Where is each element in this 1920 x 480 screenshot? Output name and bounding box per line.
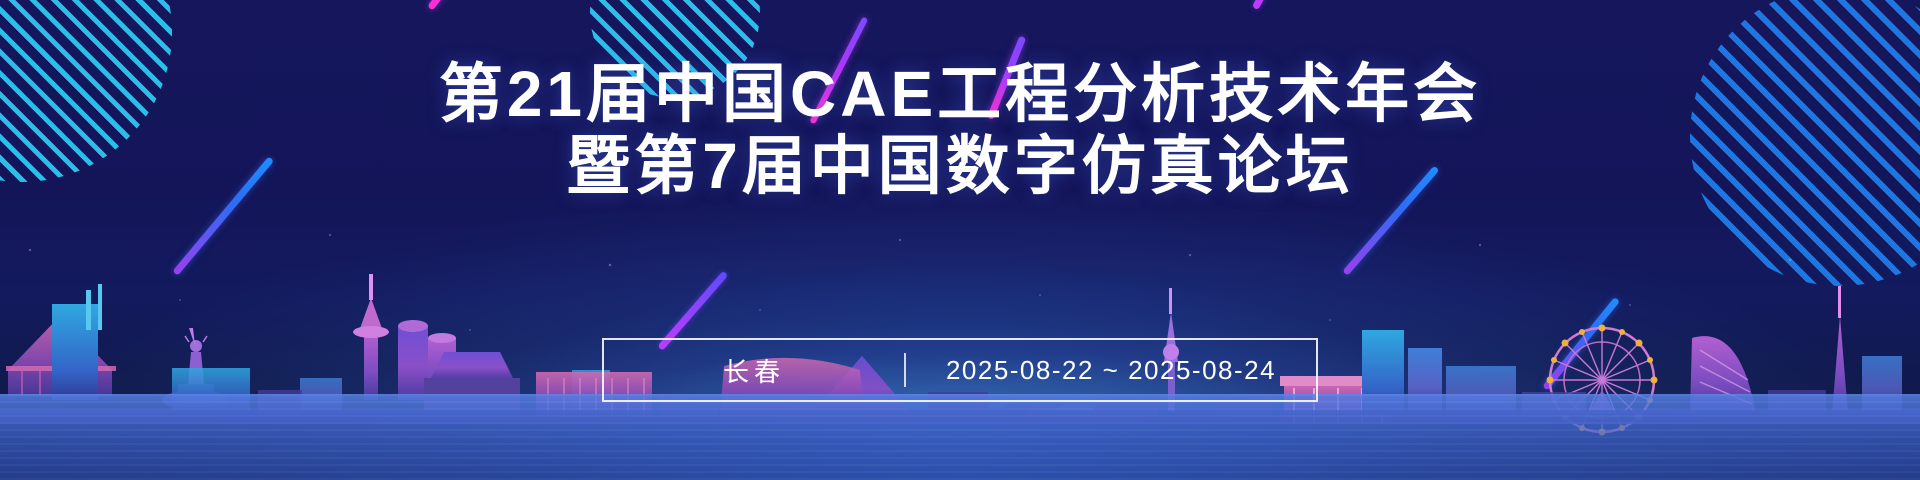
event-date-range: 2025-08-22 ~ 2025-08-24 bbox=[906, 355, 1316, 386]
banner-title: 第21届中国CAE工程分析技术年会 暨第7届中国数字仿真论坛 bbox=[0, 58, 1920, 202]
event-info-box: 长春 2025-08-22 ~ 2025-08-24 bbox=[602, 338, 1318, 402]
event-city: 长春 bbox=[604, 352, 904, 389]
title-line-2: 暨第7届中国数字仿真论坛 bbox=[0, 130, 1920, 202]
conference-banner: 第21届中国CAE工程分析技术年会 暨第7届中国数字仿真论坛 长春 2025-0… bbox=[0, 0, 1920, 480]
title-line-1: 第21届中国CAE工程分析技术年会 bbox=[0, 58, 1920, 130]
water-reflection bbox=[0, 394, 1920, 480]
